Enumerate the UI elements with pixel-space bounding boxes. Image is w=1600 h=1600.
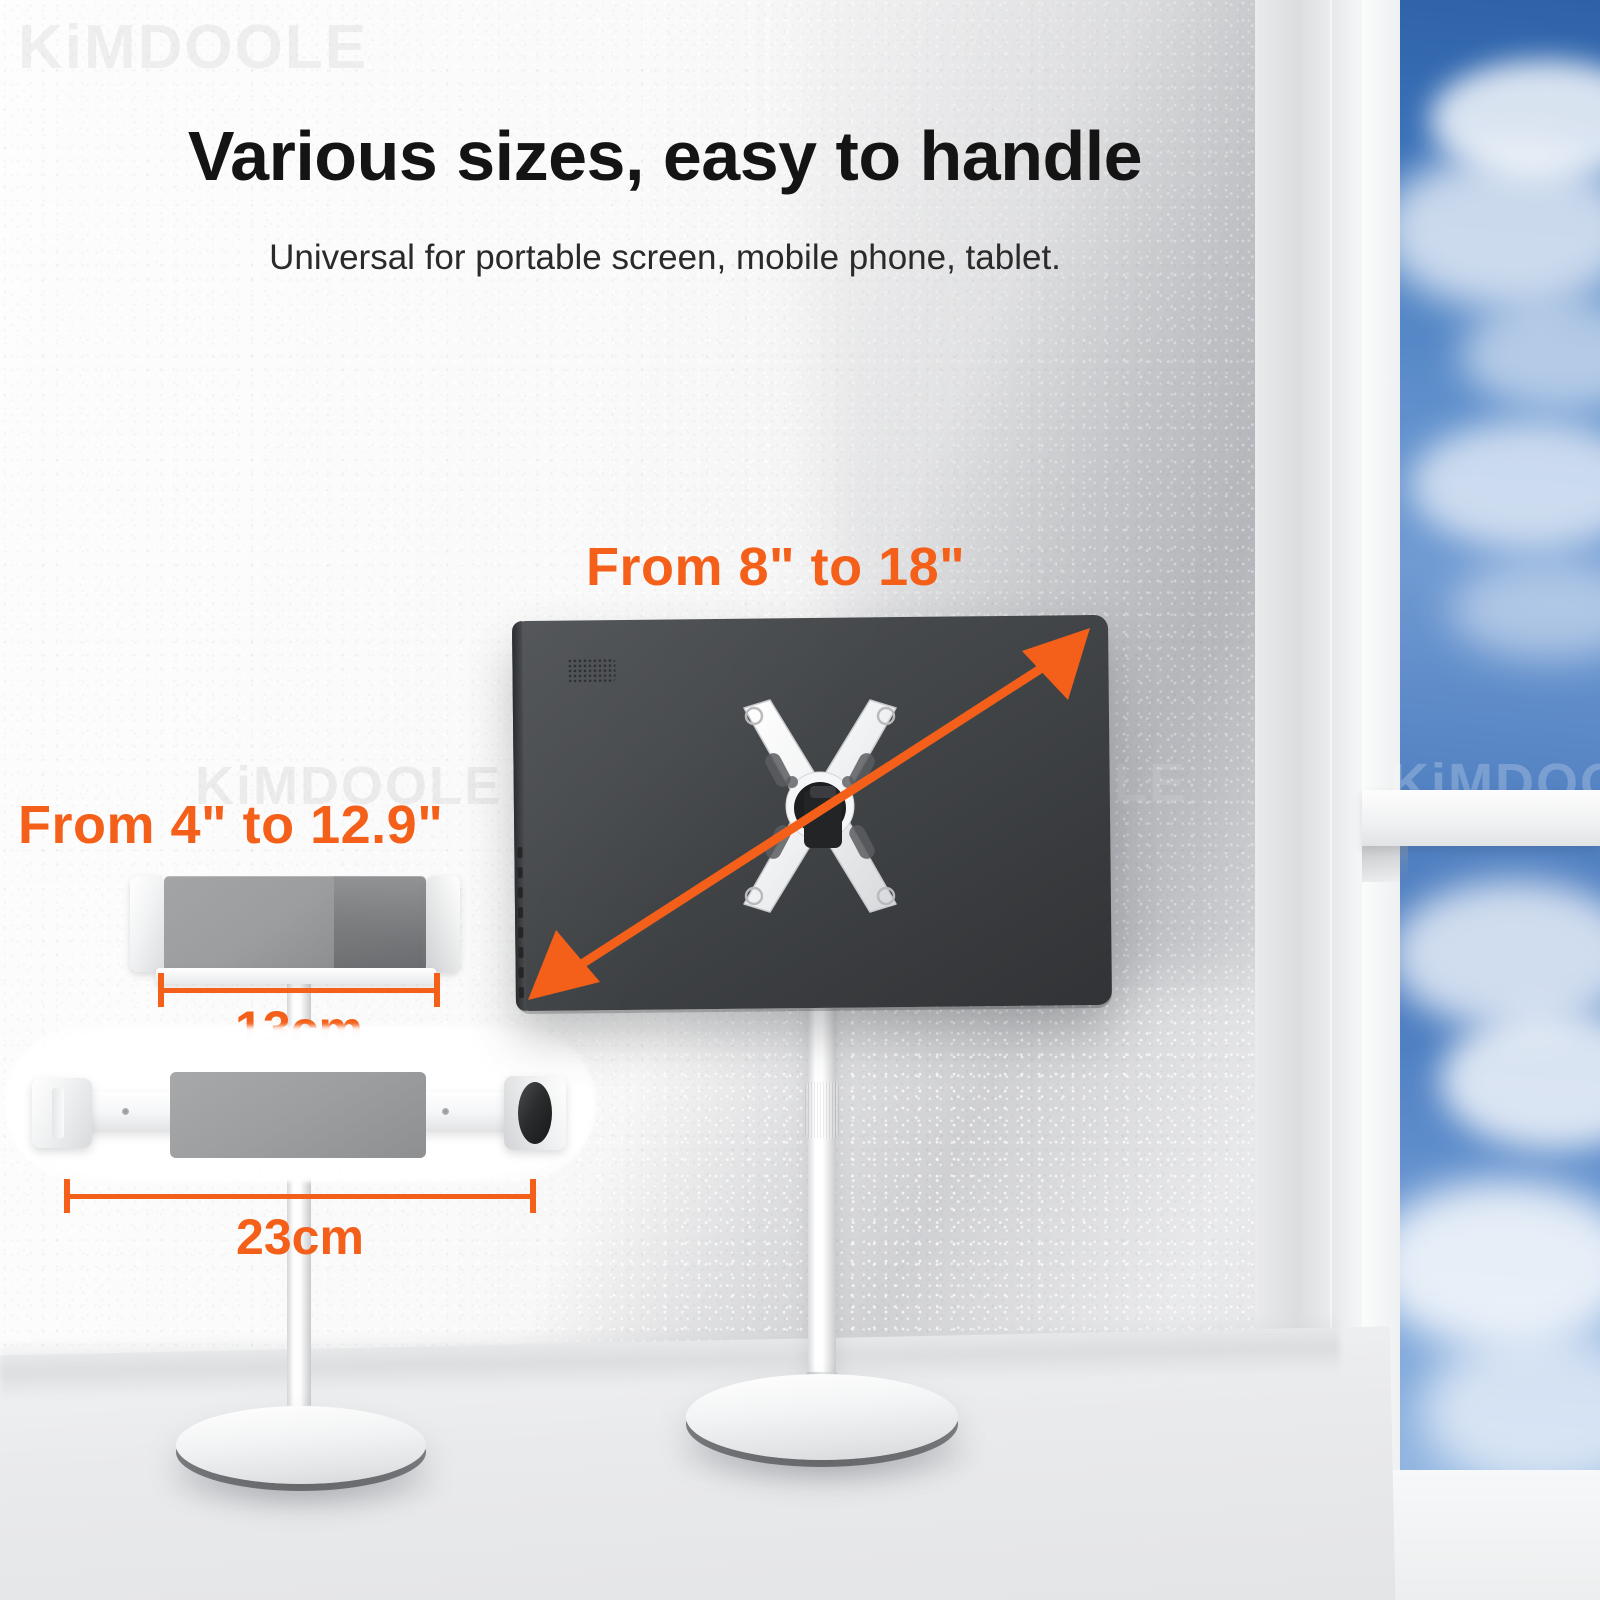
- cloud: [1450, 560, 1600, 660]
- adjustment-knob: [518, 1082, 552, 1144]
- rail-screw: [442, 1108, 449, 1115]
- window-mullion-shadow: [1362, 846, 1408, 882]
- clamp-pad: [52, 1088, 64, 1138]
- large-stand-base: [686, 1374, 958, 1460]
- holder-tray: [156, 968, 436, 984]
- port-slot: [518, 867, 523, 878]
- port-slot: [518, 927, 523, 938]
- cloud: [1440, 1010, 1600, 1150]
- vesa-mount-plate: [700, 690, 940, 920]
- screen-gloss: [334, 876, 426, 972]
- rail-screw: [122, 1108, 129, 1115]
- product-image-canvas: KiMDOOLE KiMDOOLE KiMDOOLE KiMDOOLE KiMD…: [0, 0, 1600, 1600]
- cloud: [1460, 300, 1600, 410]
- port-slot: [518, 947, 523, 958]
- page-subtitle: Universal for portable screen, mobile ph…: [0, 238, 1330, 278]
- port-slot: [517, 847, 522, 858]
- tablet-device: [164, 876, 426, 972]
- window-mullion: [1362, 790, 1600, 846]
- cloud: [1400, 150, 1600, 310]
- port-slot: [519, 967, 524, 978]
- tablet-holder-expanded: [18, 1040, 578, 1168]
- cloud: [1400, 1180, 1600, 1350]
- dimension-line: [158, 988, 440, 993]
- callout-tablet-range: From 4" to 12.9": [18, 794, 443, 856]
- page-title: Various sizes, easy to handle: [0, 116, 1330, 196]
- tablet-device-expanded: [170, 1072, 426, 1158]
- tablet-holder-closed: [130, 868, 460, 983]
- clamp-arm-right: [426, 876, 460, 972]
- cloud: [1410, 420, 1600, 550]
- cloud: [1420, 1330, 1600, 1490]
- dimension-label-23cm: 23cm: [64, 1208, 536, 1266]
- cloud: [1400, 880, 1600, 1030]
- speaker-grille-icon: [567, 658, 615, 683]
- port-slot: [519, 987, 524, 998]
- port-slot: [518, 907, 523, 918]
- clamp-arm-left: [130, 876, 164, 972]
- height-adjust-collar: [805, 1082, 839, 1138]
- clamp-arm-left-open: [32, 1078, 92, 1148]
- callout-monitor-range: From 8" to 18": [586, 536, 965, 598]
- port-slot: [518, 887, 523, 898]
- small-stand-base: [176, 1406, 426, 1484]
- dimension-line: [64, 1194, 536, 1199]
